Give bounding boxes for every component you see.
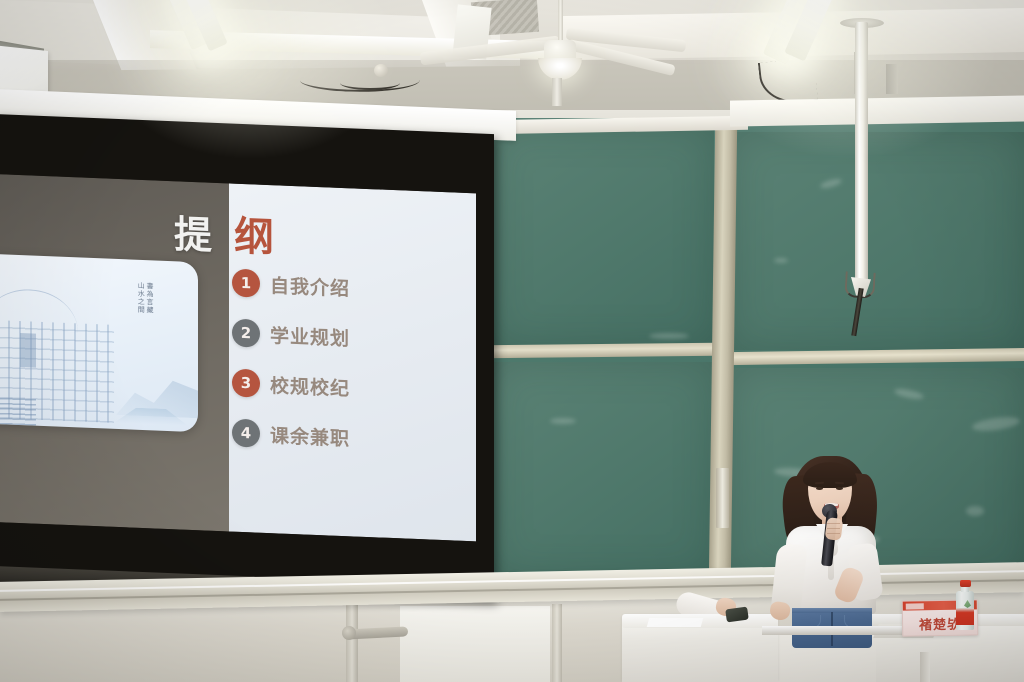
agenda-label: 自我介绍 — [270, 271, 350, 301]
ceiling-bracket-2 — [886, 64, 898, 94]
podium-right-leg — [920, 652, 930, 682]
slide-campus-photo: 書為言藏 山水之間 — [0, 253, 198, 433]
podium-paper — [647, 618, 704, 627]
agenda-number-badge: 1 — [232, 269, 260, 298]
agenda-number-badge: 3 — [232, 369, 260, 398]
agenda-label: 学业规划 — [270, 321, 350, 351]
slide-agenda-list: 1 自我介绍 2 学业规划 3 校规校纪 4 课余兼职 — [232, 258, 472, 468]
agenda-number-badge: 4 — [232, 419, 260, 448]
water-bottle-cap — [960, 580, 971, 587]
wall-panel — [400, 606, 550, 682]
name-card-logo-icon — [906, 603, 924, 609]
photo-calligraphy: 書為言藏 山水之間 — [137, 282, 155, 315]
hanging-pole[interactable] — [855, 22, 868, 288]
projected-slide: 書為言藏 山水之間 提 纲 1 自我介绍 2 学业规划 3 校规校纪 — [0, 174, 476, 541]
agenda-label: 课余兼职 — [270, 421, 350, 451]
ceiling-cable-knob — [374, 64, 388, 77]
fan-stem-lower — [552, 78, 562, 106]
podium-middle-rail — [762, 626, 902, 635]
presenter-eye-left — [816, 487, 823, 490]
projection-screen[interactable]: 書為言藏 山水之間 提 纲 1 自我介绍 2 学业规划 3 校规校纪 — [0, 114, 494, 600]
photo-tower — [20, 333, 36, 368]
ceiling-cable-2 — [340, 76, 400, 90]
slide-title-char-2: 纲 — [234, 204, 274, 264]
presenter — [746, 452, 906, 642]
wall-post-2 — [552, 604, 562, 682]
presenter-finger-crease — [827, 523, 840, 524]
presenter-finger-crease — [827, 528, 840, 529]
board-valance — [730, 95, 1024, 126]
water-bottle — [955, 580, 975, 630]
agenda-item: 4 课余兼职 — [232, 408, 472, 468]
wall-post — [346, 600, 358, 682]
water-bottle-label — [956, 608, 974, 625]
presenter-finger-crease — [827, 533, 840, 534]
presenter-hand-left — [769, 600, 792, 621]
slide-title-char-1: 提 — [174, 203, 213, 260]
agenda-label: 校规校纪 — [270, 371, 350, 401]
classroom-scene: 書為言藏 山水之間 提 纲 1 自我介绍 2 学业规划 3 校规校纪 — [0, 0, 1024, 682]
wall-handle-tip — [342, 626, 356, 640]
presenter-eye-right — [836, 487, 843, 490]
agenda-number-badge: 2 — [232, 319, 260, 348]
photo-stairs — [0, 396, 36, 426]
